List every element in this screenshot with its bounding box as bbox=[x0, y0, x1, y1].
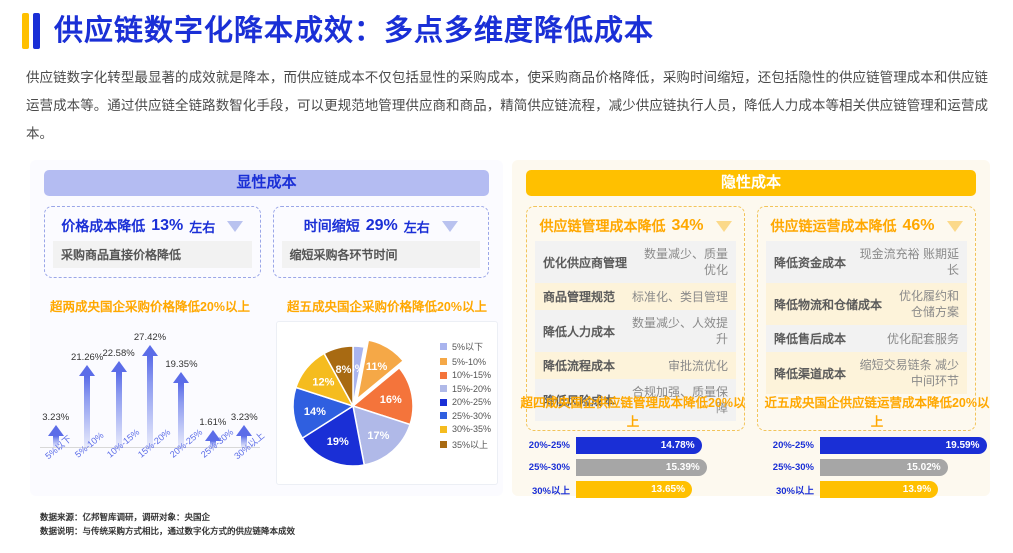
arrow-head-icon bbox=[79, 365, 95, 376]
card-row-key: 商品管理规范 bbox=[543, 288, 615, 305]
hbar-value-label: 13.9% bbox=[903, 484, 931, 495]
hbar-row: 20%-25%14.78% bbox=[518, 437, 748, 454]
legend-item: 20%-25% bbox=[440, 397, 491, 407]
footnote-source: 数据来源：亿邦智库调研，调研对象：央国企 bbox=[40, 510, 295, 524]
legend-item: 10%-15% bbox=[440, 370, 491, 380]
card-price-cost-rows: 采购商品直接价格降低 bbox=[53, 241, 252, 268]
card-price-cost-suffix: 左右 bbox=[189, 217, 215, 236]
arrow-head-icon bbox=[111, 361, 127, 372]
card-row-value: 数量减少、质量优化 bbox=[635, 246, 728, 278]
card-time-reduction-rows: 缩短采购各环节时间 bbox=[282, 241, 481, 268]
chart-procurement-price-bar-xaxis: 5%以下5%-10%10%-15%15%-20%20%-25%25%-30%30… bbox=[40, 448, 260, 492]
hbar-category-label: 30%以上 bbox=[762, 483, 814, 497]
hbar-bar: 15.02% bbox=[820, 459, 948, 476]
pie-slice-label: 11% bbox=[366, 361, 388, 373]
bar-value-label: 3.23% bbox=[231, 412, 258, 423]
footnote-note: 数据说明：与传统采购方式相比，通过数字化方式的供应链降本成效 bbox=[40, 524, 295, 538]
card-time-reduction[interactable]: 时间缩短 29% 左右 缩短采购各环节时间 bbox=[273, 206, 490, 278]
explicit-cards: 价格成本降低 13% 左右 采购商品直接价格降低 时间缩短 29% 左右 bbox=[30, 196, 503, 278]
bar-value-label: 3.23% bbox=[42, 412, 69, 423]
chart-management-cost-hbar: 超四成央国企供应链管理成本降低20%以上 20%-25%14.78%25%-30… bbox=[518, 392, 748, 503]
chart-operations-cost-hbar-plot: 20%-25%19.59%25%-30%15.02%30%以上13.9% bbox=[762, 437, 992, 498]
card-row: 降低流程成本 审批流优化 bbox=[535, 352, 736, 379]
card-row-key: 降低流程成本 bbox=[543, 357, 615, 374]
chart-management-cost-hbar-plot: 20%-25%14.78%25%-30%15.39%30%以上13.65% bbox=[518, 437, 748, 498]
card-time-reduction-label: 时间缩短 bbox=[304, 216, 360, 236]
legend-swatch bbox=[440, 385, 447, 392]
card-price-cost-value: 13% bbox=[151, 217, 183, 235]
arrow-head-icon bbox=[173, 372, 189, 383]
bar-arrow: 27.42% bbox=[139, 345, 161, 447]
legend-item: 15%-20% bbox=[440, 384, 491, 394]
hbar-row: 20%-25%19.59% bbox=[762, 437, 992, 454]
hbar-bar: 19.59% bbox=[820, 437, 987, 454]
legend-swatch bbox=[440, 441, 447, 448]
legend-swatch bbox=[440, 426, 447, 433]
card-row: 降低渠道成本 缩短交易链条 减少中间环节 bbox=[766, 352, 967, 394]
card-supply-chain-operations-rows: 降低资金成本 现金流充裕 账期延长 降低物流和仓储成本 优化履约和仓储方案 降低… bbox=[766, 241, 967, 394]
pie-slice-label: 19% bbox=[327, 436, 349, 448]
accent-bar-blue bbox=[33, 13, 40, 49]
legend-label: 30%-35% bbox=[452, 424, 491, 434]
chart-procurement-price-pie-title: 超五成央国企采购价格降低20%以上 bbox=[276, 296, 498, 315]
legend-swatch bbox=[440, 343, 447, 350]
page-title-row: 供应链数字化降本成效：多点多维度降低成本 bbox=[22, 13, 654, 49]
card-row-key: 缩短采购各环节时间 bbox=[290, 246, 398, 263]
page-title: 供应链数字化降本成效：多点多维度降低成本 bbox=[54, 13, 654, 49]
legend-label: 10%-15% bbox=[452, 370, 491, 380]
hbar-category-label: 20%-25% bbox=[518, 440, 570, 451]
legend-item: 5%以下 bbox=[440, 340, 491, 353]
card-time-reduction-value: 29% bbox=[366, 217, 398, 235]
pie-legend: 5%以下5%-10%10%-15%15%-20%20%-25%25%-30%30… bbox=[440, 340, 491, 451]
card-row: 降低售后成本 优化配套服务 bbox=[766, 325, 967, 352]
bar-stem bbox=[116, 372, 122, 447]
card-row-value: 优化履约和仓储方案 bbox=[890, 288, 959, 320]
hbar-category-label: 30%以上 bbox=[518, 483, 570, 497]
pie-slice-label: 8% bbox=[335, 364, 351, 376]
card-time-reduction-suffix: 左右 bbox=[404, 217, 430, 236]
explicit-panel-title: 显性成本 bbox=[44, 170, 489, 196]
card-row-key: 采购商品直接价格降低 bbox=[61, 246, 181, 263]
card-row-value: 标准化、类目管理 bbox=[632, 289, 728, 305]
hbar-value-label: 15.39% bbox=[666, 462, 700, 473]
hbar-bar: 13.9% bbox=[820, 481, 938, 498]
pie-slice-label: 12% bbox=[312, 377, 334, 389]
card-row-key: 优化供应商管理 bbox=[543, 254, 627, 271]
bar-stem bbox=[84, 376, 90, 447]
legend-label: 15%-20% bbox=[452, 384, 491, 394]
card-price-cost-header: 价格成本降低 13% 左右 bbox=[53, 214, 252, 238]
card-row-key: 降低渠道成本 bbox=[774, 365, 846, 382]
implicit-panel-title: 隐性成本 bbox=[526, 170, 976, 196]
legend-label: 20%-25% bbox=[452, 397, 491, 407]
arrow-head-icon bbox=[142, 345, 158, 356]
hbar-bar: 14.78% bbox=[576, 437, 702, 454]
bar-stem bbox=[147, 356, 153, 447]
legend-item: 35%以上 bbox=[440, 438, 491, 451]
card-row-value: 数量减少、人效提升 bbox=[623, 315, 728, 347]
card-row-value: 优化配套服务 bbox=[887, 331, 959, 347]
hbar-category-label: 25%-30% bbox=[518, 462, 570, 473]
hbar-bar: 15.39% bbox=[576, 459, 707, 476]
pie-slice-label: 17% bbox=[367, 430, 389, 442]
footnote: 数据来源：亿邦智库调研，调研对象：央国企 数据说明：与传统采购方式相比，通过数字… bbox=[40, 510, 295, 538]
card-row: 商品管理规范 标准化、类目管理 bbox=[535, 283, 736, 310]
legend-label: 5%-10% bbox=[452, 357, 486, 367]
triangle-down-icon bbox=[227, 221, 243, 232]
hbar-category-label: 20%-25% bbox=[762, 440, 814, 451]
card-time-reduction-header: 时间缩短 29% 左右 bbox=[282, 214, 481, 238]
chart-procurement-price-pie-frame: 3%11%16%17%19%14%12%8% 5%以下5%-10%10%-15%… bbox=[276, 321, 498, 485]
triangle-down-icon bbox=[442, 221, 458, 232]
legend-label: 5%以下 bbox=[452, 340, 483, 353]
legend-item: 25%-30% bbox=[440, 411, 491, 421]
card-row-value: 缩短交易链条 减少中间环节 bbox=[854, 357, 959, 389]
card-row: 降低物流和仓储成本 优化履约和仓储方案 bbox=[766, 283, 967, 325]
legend-swatch bbox=[440, 372, 447, 379]
hbar-value-label: 19.59% bbox=[946, 440, 980, 451]
chart-procurement-price-bar-title: 超两成央国企采购价格降低20%以上 bbox=[34, 296, 266, 315]
card-row-key: 降低物流和仓储成本 bbox=[774, 296, 882, 313]
card-supply-chain-management-label: 供应链管理成本降低 bbox=[539, 216, 665, 236]
card-supply-chain-operations-value: 46% bbox=[902, 217, 934, 235]
card-price-cost-label: 价格成本降低 bbox=[61, 216, 145, 236]
card-row: 采购商品直接价格降低 bbox=[53, 241, 252, 268]
pie-slice-label: 14% bbox=[304, 406, 326, 418]
legend-label: 35%以上 bbox=[452, 438, 488, 451]
card-supply-chain-management-value: 34% bbox=[671, 217, 703, 235]
triangle-down-icon bbox=[947, 221, 963, 232]
bar-value-label: 19.35% bbox=[165, 359, 197, 370]
hbar-bar: 13.65% bbox=[576, 481, 692, 498]
card-supply-chain-operations-header: 供应链运营成本降低 46% bbox=[766, 214, 967, 238]
hbar-row: 25%-30%15.39% bbox=[518, 459, 748, 476]
bar-value-label: 27.42% bbox=[134, 332, 166, 343]
card-supply-chain-operations-label: 供应链运营成本降低 bbox=[770, 216, 896, 236]
intro-paragraph: 供应链数字化转型最显著的成效就是降本，而供应链成本不仅包括显性的采购成本，使采购… bbox=[26, 64, 988, 148]
chart-operations-cost-hbar-title: 近五成央国企供应链运营成本降低20%以上 bbox=[762, 392, 992, 430]
bar-value-label: 21.26% bbox=[71, 352, 103, 363]
hbar-row: 30%以上13.65% bbox=[518, 481, 748, 498]
bar-value-label: 1.61% bbox=[199, 417, 226, 428]
legend-label: 25%-30% bbox=[452, 411, 491, 421]
card-row-key: 降低资金成本 bbox=[774, 254, 846, 271]
card-row-key: 降低售后成本 bbox=[774, 330, 846, 347]
legend-swatch bbox=[440, 358, 447, 365]
legend-swatch bbox=[440, 412, 447, 419]
card-row-value: 审批流优化 bbox=[668, 358, 728, 374]
pie-slice-label: 16% bbox=[380, 394, 402, 406]
bar-value-label: 22.58% bbox=[102, 348, 134, 359]
chart-management-cost-hbar-title: 超四成央国企供应链管理成本降低20%以上 bbox=[518, 392, 748, 430]
card-row: 缩短采购各环节时间 bbox=[282, 241, 481, 268]
accent-bar-orange bbox=[22, 13, 29, 49]
card-supply-chain-management-header: 供应链管理成本降低 34% bbox=[535, 214, 736, 238]
card-row-value: 现金流充裕 账期延长 bbox=[854, 246, 959, 278]
chart-procurement-price-bar: 超两成央国企采购价格降低20%以上 3.23%21.26%22.58%27.42… bbox=[34, 296, 266, 486]
hbar-value-label: 14.78% bbox=[661, 440, 695, 451]
chart-operations-cost-hbar: 近五成央国企供应链运营成本降低20%以上 20%-25%19.59%25%-30… bbox=[762, 392, 992, 503]
chart-procurement-price-pie: 超五成央国企采购价格降低20%以上 3%11%16%17%19%14%12%8%… bbox=[276, 296, 498, 486]
hbar-row: 30%以上13.9% bbox=[762, 481, 992, 498]
hbar-value-label: 13.65% bbox=[651, 484, 685, 495]
legend-swatch bbox=[440, 399, 447, 406]
triangle-down-icon bbox=[716, 221, 732, 232]
card-row: 优化供应商管理 数量减少、质量优化 bbox=[535, 241, 736, 283]
hbar-category-label: 25%-30% bbox=[762, 462, 814, 473]
legend-item: 5%-10% bbox=[440, 357, 491, 367]
card-row: 降低资金成本 现金流充裕 账期延长 bbox=[766, 241, 967, 283]
hbar-row: 25%-30%15.02% bbox=[762, 459, 992, 476]
card-row-key: 降低人力成本 bbox=[543, 323, 615, 340]
pie-graphic: 3%11%16%17%19%14%12%8% bbox=[285, 332, 427, 474]
hbar-value-label: 15.02% bbox=[907, 462, 941, 473]
card-price-cost[interactable]: 价格成本降低 13% 左右 采购商品直接价格降低 bbox=[44, 206, 261, 278]
card-row: 降低人力成本 数量减少、人效提升 bbox=[535, 310, 736, 352]
legend-item: 30%-35% bbox=[440, 424, 491, 434]
slide-root: 供应链数字化降本成效：多点多维度降低成本 供应链数字化转型最显著的成效就是降本，… bbox=[0, 0, 1013, 553]
